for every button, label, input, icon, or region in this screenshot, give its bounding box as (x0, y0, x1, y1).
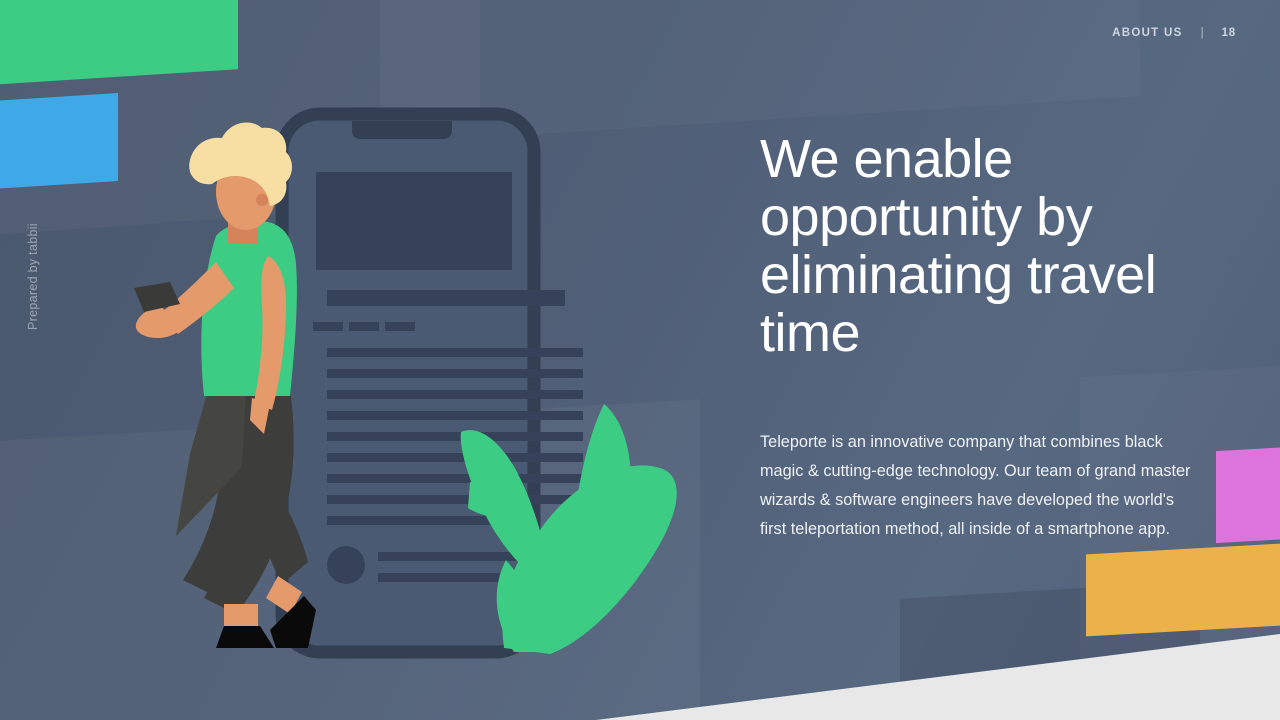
slide-canvas: Prepared by tabbii ABOUT US | 18 We enab… (0, 0, 1280, 720)
page-title: We enable opportunity by eliminating tra… (760, 130, 1200, 362)
accent-bar-orange (1086, 542, 1280, 637)
slide-header: ABOUT US | 18 (1112, 27, 1236, 39)
accent-bar-magenta (1216, 445, 1280, 543)
prepared-by-credit: Prepared by tabbii (26, 170, 40, 330)
accent-bar-blue (0, 93, 118, 191)
page-number: 18 (1222, 27, 1236, 39)
headline-container: We enable opportunity by eliminating tra… (760, 130, 1200, 362)
header-divider: | (1201, 27, 1204, 39)
body-paragraph: Teleporte is an innovative company that … (760, 428, 1192, 544)
section-label: ABOUT US (1112, 27, 1182, 39)
